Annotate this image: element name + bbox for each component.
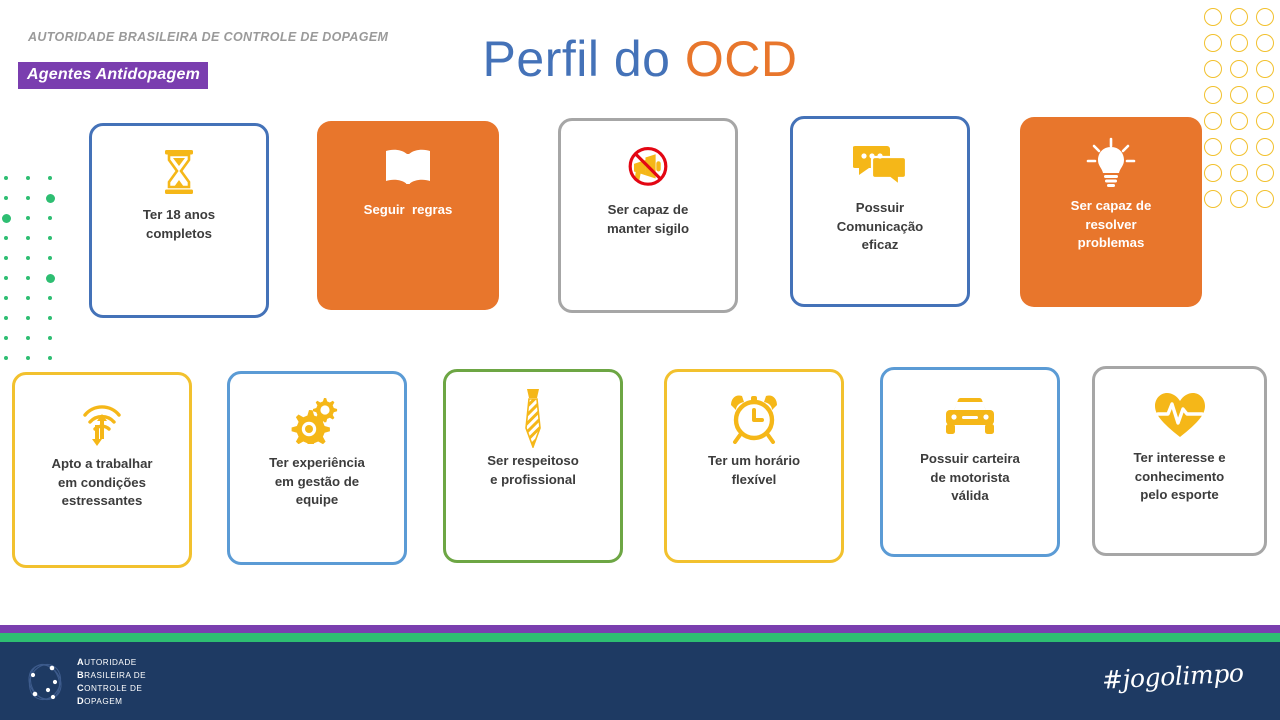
decorative-circle xyxy=(1230,112,1248,130)
decorative-circle xyxy=(1204,164,1222,182)
decorative-circle xyxy=(1256,190,1274,208)
card-condicoes-estressantes[interactable]: Apto a trabalharem condiçõesestressantes xyxy=(12,372,192,568)
pressure-signal-icon xyxy=(74,393,130,449)
page-title-main: Perfil do xyxy=(483,31,685,87)
card-label: Ter experiênciaem gestão deequipe xyxy=(260,454,374,510)
heart-pulse-icon xyxy=(1152,387,1208,443)
decorative-dot xyxy=(4,356,8,360)
decorative-dot xyxy=(26,256,30,260)
decorative-circle xyxy=(1204,8,1222,26)
decorative-dot xyxy=(26,196,30,200)
decorative-dot xyxy=(48,356,52,360)
hourglass-icon xyxy=(151,144,207,200)
atom-network-icon xyxy=(22,659,68,705)
footer-bar: AUTORIDADEBRASILEIRA DECONTROLE DEDOPAGE… xyxy=(0,642,1280,720)
car-icon xyxy=(942,388,998,444)
card-resolver-problemas[interactable]: Ser capaz deresolverproblemas xyxy=(1020,117,1202,307)
card-label: Apto a trabalharem condiçõesestressantes xyxy=(42,455,161,511)
decorative-circle xyxy=(1204,112,1222,130)
decorative-dot xyxy=(26,336,30,340)
decorative-dot xyxy=(26,236,30,240)
decorative-dot xyxy=(4,316,8,320)
slide-root: AUTORIDADE BRASILEIRA DE CONTROLE DE DOP… xyxy=(0,0,1280,720)
no-megaphone-icon xyxy=(620,139,676,195)
decorative-dot xyxy=(4,196,8,200)
decorative-dot xyxy=(48,256,52,260)
decorative-circle xyxy=(1204,190,1222,208)
card-label: Ter 18 anoscompletos xyxy=(134,206,224,243)
open-book-icon xyxy=(380,139,436,195)
card-comunicacao-eficaz[interactable]: PossuirComunicaçãoeficaz xyxy=(790,116,970,307)
decorative-dot xyxy=(46,194,55,203)
page-title: Perfil do OCD xyxy=(0,30,1280,88)
card-manter-sigilo[interactable]: Ser capaz demanter sigilo xyxy=(558,118,738,313)
decorative-dot xyxy=(46,274,55,283)
card-label: Ter interesse econhecimentopelo esporte xyxy=(1124,449,1234,505)
lightbulb-icon xyxy=(1083,135,1139,191)
brand-logo-line: DOPAGEM xyxy=(77,695,146,708)
decorative-dot xyxy=(26,276,30,280)
decorative-dot xyxy=(48,236,52,240)
card-seguir-regras[interactable]: Seguir regras xyxy=(317,121,499,310)
page-title-accent: OCD xyxy=(685,31,798,87)
decorative-dot xyxy=(48,316,52,320)
decorative-dot xyxy=(48,296,52,300)
decorative-circle xyxy=(1230,190,1248,208)
brand-logo-line: BRASILEIRA DE xyxy=(77,669,146,682)
decorative-dot xyxy=(48,176,52,180)
decorative-dot xyxy=(4,336,8,340)
card-label: Possuir carteirade motoristaválida xyxy=(911,450,1029,506)
decorative-circle xyxy=(1204,138,1222,156)
speech-bubbles-icon xyxy=(852,137,908,193)
card-horario-flexivel[interactable]: Ter um horárioflexível xyxy=(664,369,844,563)
decorative-dot xyxy=(48,336,52,340)
card-label: Ter um horárioflexível xyxy=(699,452,809,489)
decorative-dot xyxy=(4,296,8,300)
footer-stripe-green xyxy=(0,633,1280,642)
decorative-circle xyxy=(1230,138,1248,156)
brand-logo-line: CONTROLE DE xyxy=(77,682,146,695)
decorative-dot xyxy=(4,276,8,280)
decorative-dot xyxy=(4,176,8,180)
alarm-clock-icon xyxy=(726,390,782,446)
necktie-icon xyxy=(505,390,561,446)
decorative-circle xyxy=(1256,86,1274,104)
brand-logo: AUTORIDADEBRASILEIRA DECONTROLE DEDOPAGE… xyxy=(22,656,146,708)
campaign-hashtag: #jogolimpo xyxy=(1102,658,1245,694)
decorative-dot xyxy=(2,214,11,223)
brand-logo-line: AUTORIDADE xyxy=(77,656,146,669)
decorative-circle xyxy=(1256,164,1274,182)
card-label: Seguir regras xyxy=(355,201,462,220)
decorative-circle xyxy=(1230,8,1248,26)
card-label: Ser capaz deresolverproblemas xyxy=(1062,197,1161,253)
card-gestao-de-equipe[interactable]: Ter experiênciaem gestão deequipe xyxy=(227,371,407,565)
card-label: Ser capaz demanter sigilo xyxy=(598,201,698,238)
decorative-circle xyxy=(1230,164,1248,182)
decorative-circle xyxy=(1204,86,1222,104)
decorative-circle xyxy=(1256,8,1274,26)
brand-logo-text: AUTORIDADEBRASILEIRA DECONTROLE DEDOPAGE… xyxy=(77,656,146,708)
decorative-dot-grid xyxy=(4,176,56,356)
decorative-dot xyxy=(26,296,30,300)
card-interesse-esporte[interactable]: Ter interesse econhecimentopelo esporte xyxy=(1092,366,1267,556)
decorative-dot xyxy=(26,356,30,360)
card-respeitoso-profissional[interactable]: Ser respeitosoe profissional xyxy=(443,369,623,563)
decorative-dot xyxy=(4,256,8,260)
card-label: Ser respeitosoe profissional xyxy=(478,452,588,489)
decorative-circle xyxy=(1256,138,1274,156)
decorative-dot xyxy=(26,316,30,320)
decorative-circle xyxy=(1230,86,1248,104)
decorative-dot xyxy=(48,216,52,220)
gears-icon xyxy=(289,392,345,448)
decorative-dot xyxy=(26,176,30,180)
decorative-dot xyxy=(4,236,8,240)
card-ter-18-anos[interactable]: Ter 18 anoscompletos xyxy=(89,123,269,318)
decorative-circle xyxy=(1256,112,1274,130)
card-label: PossuirComunicaçãoeficaz xyxy=(828,199,932,255)
decorative-dot xyxy=(26,216,30,220)
card-carteira-motorista[interactable]: Possuir carteirade motoristaválida xyxy=(880,367,1060,557)
